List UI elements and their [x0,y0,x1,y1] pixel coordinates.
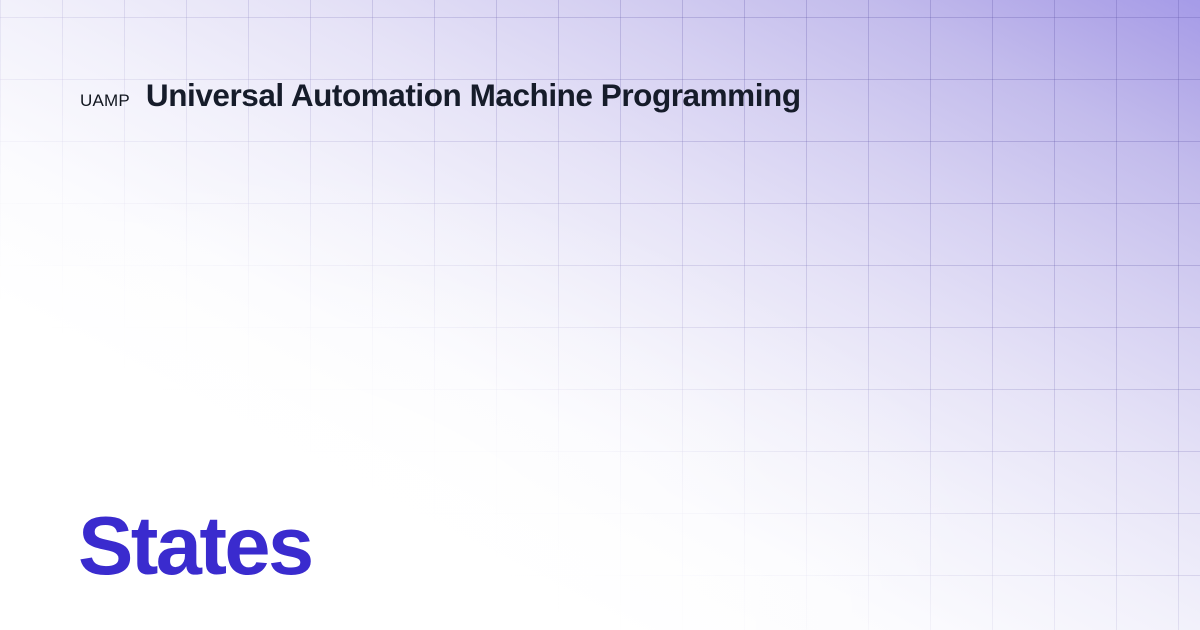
brand-logo-uamp: UAMP [80,92,130,109]
header-title: Universal Automation Machine Programming [146,80,801,112]
header: UAMP Universal Automation Machine Progra… [80,80,801,112]
cover-slide: UAMP Universal Automation Machine Progra… [0,0,1200,630]
page-title: States [78,504,312,587]
